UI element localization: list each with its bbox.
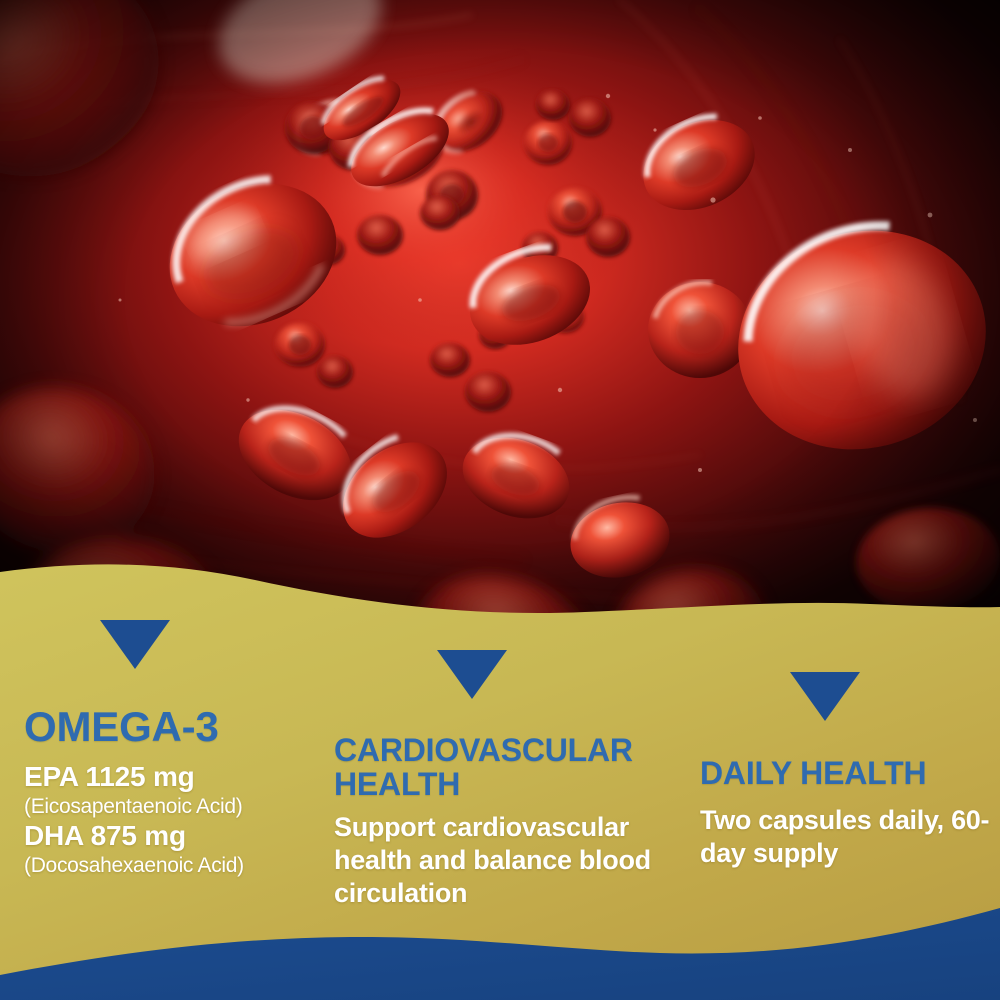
column-title-omega: OMEGA-3: [24, 705, 324, 750]
omega-dha-fullname: (Docosahexaenoic Acid): [24, 853, 324, 879]
blue-wave-shape: [0, 908, 1000, 1000]
hero-image: [0, 0, 1000, 660]
feature-column-omega: OMEGA-3 EPA 1125 mg (Eicosapentaenoic Ac…: [24, 620, 324, 879]
column-body-daily-health: Two capsules daily, 60-day supply: [700, 804, 1000, 870]
blood-vessel-illustration: [0, 0, 1000, 660]
feature-column-daily-health: DAILY HEALTH Two capsules daily, 60-day …: [700, 672, 1000, 870]
omega-epa-fullname: (Eicosapentaenoic Acid): [24, 794, 324, 820]
omega-epa-amount: EPA 1125 mg: [24, 760, 324, 794]
down-triangle-icon: [437, 650, 507, 699]
down-triangle-icon: [790, 672, 860, 721]
column-title-daily-health: DAILY HEALTH: [700, 757, 1000, 791]
feature-column-cardiovascular: CARDIOVASCULAR HEALTH Support cardiovasc…: [334, 650, 684, 910]
omega-dha-amount: DHA 875 mg: [24, 819, 324, 853]
product-infographic-poster: OMEGA-3 EPA 1125 mg (Eicosapentaenoic Ac…: [0, 0, 1000, 1000]
column-title-cardiovascular: CARDIOVASCULAR HEALTH: [334, 734, 684, 802]
column-body-cardiovascular: Support cardiovascular health and balanc…: [334, 811, 684, 910]
column-body-omega: EPA 1125 mg (Eicosapentaenoic Acid) DHA …: [24, 760, 324, 880]
down-triangle-icon: [100, 620, 170, 669]
